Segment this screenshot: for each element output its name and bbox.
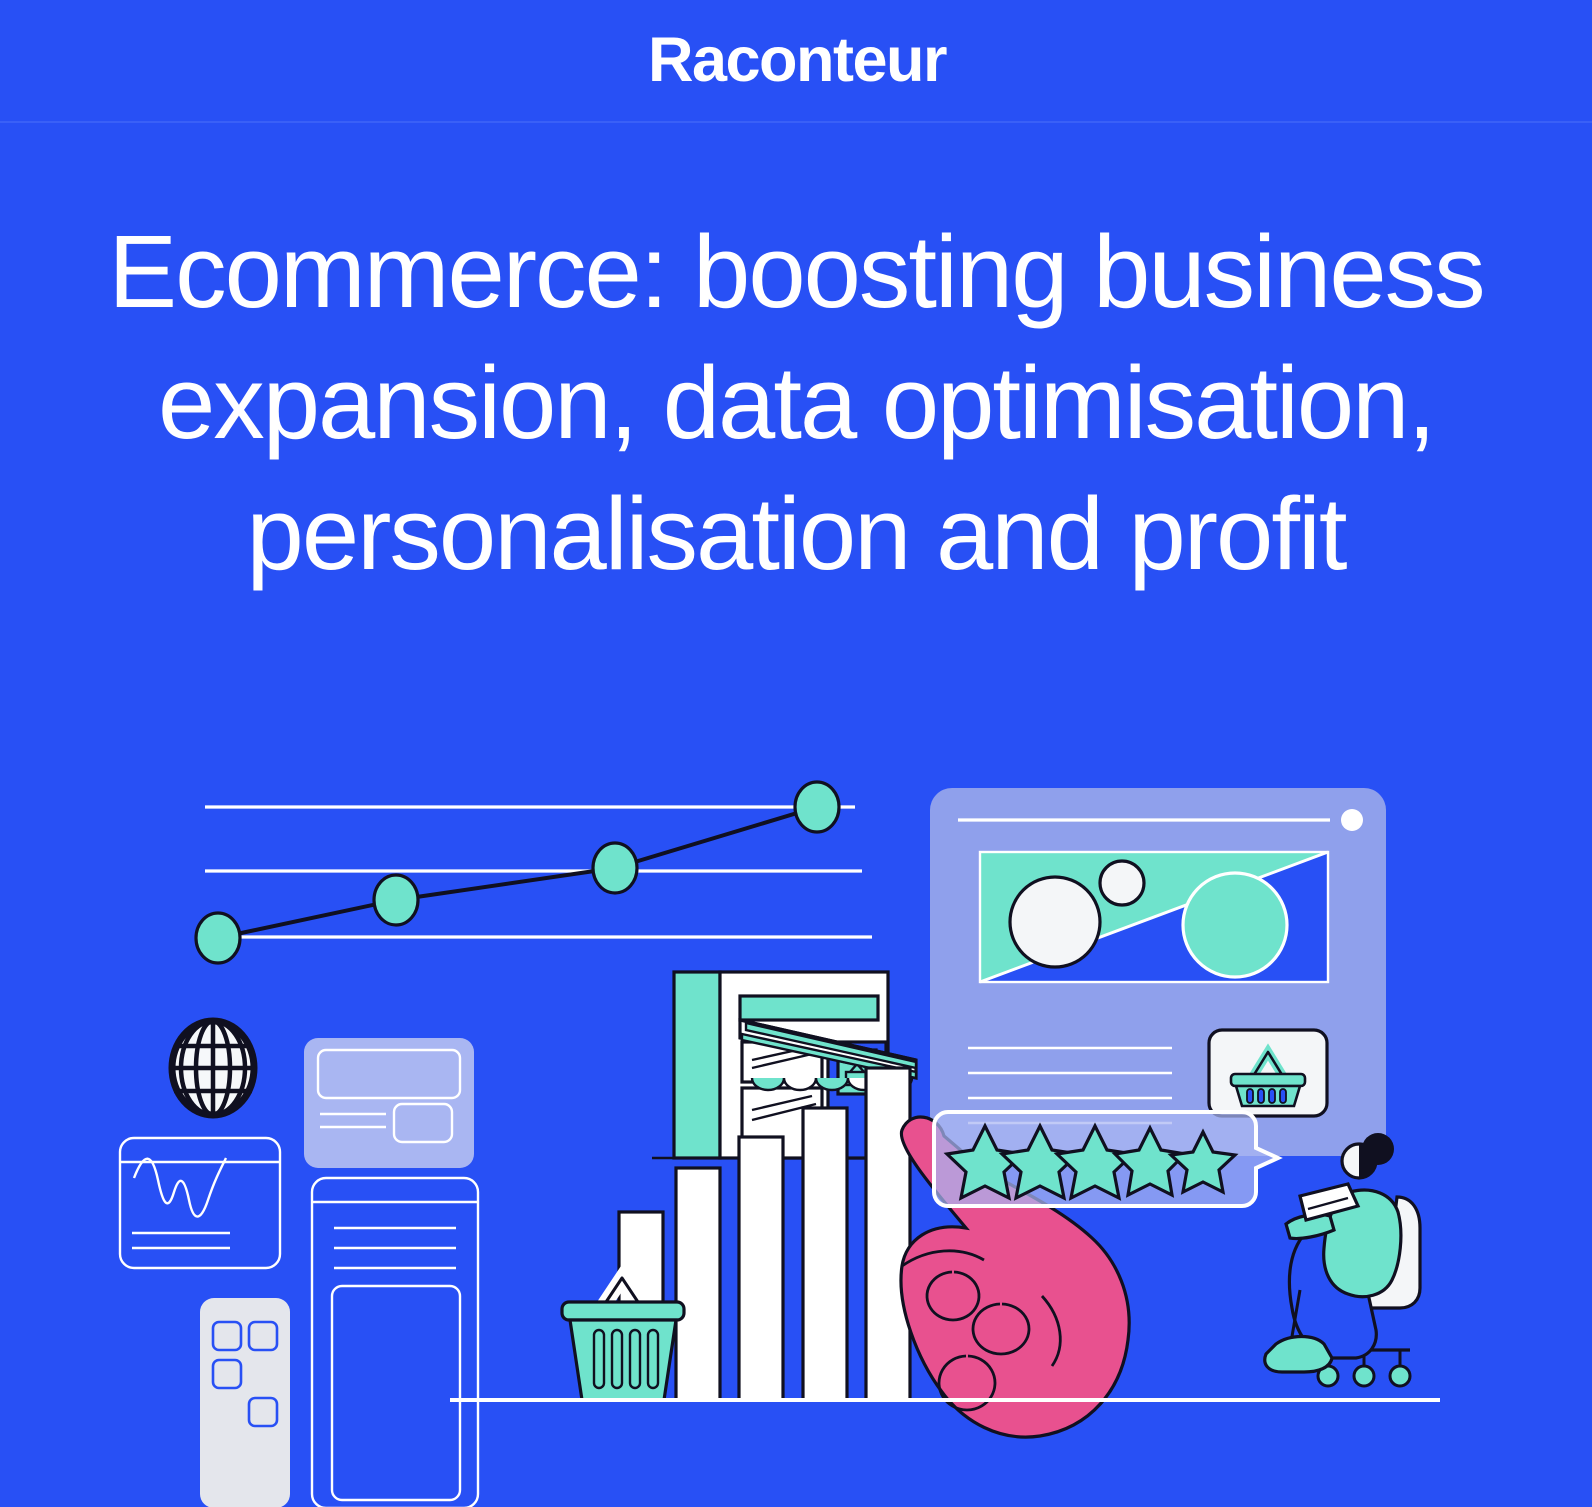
storefront-sign bbox=[740, 996, 878, 1020]
tablet-image-circle-small bbox=[1100, 861, 1144, 905]
chair-wheel-2 bbox=[1354, 1366, 1374, 1386]
card-panel bbox=[304, 1038, 474, 1168]
person-at-desk bbox=[1265, 1133, 1420, 1386]
bar-4 bbox=[803, 1108, 847, 1400]
basket-button[interactable] bbox=[1209, 1030, 1327, 1116]
line-chart bbox=[196, 782, 872, 963]
tablet-camera-dot bbox=[1341, 809, 1363, 831]
chart-window-sparkline bbox=[134, 1158, 226, 1217]
hero-illustration: .ol { stroke:#101020; stroke-width:3.2; … bbox=[0, 700, 1592, 1507]
document-panel bbox=[312, 1178, 478, 1507]
tablet-image-circle-large bbox=[1010, 877, 1100, 967]
line-chart-point-2 bbox=[374, 875, 418, 925]
line-chart-point-4 bbox=[795, 782, 839, 832]
title-line-1: Ecommerce: boosting business bbox=[14, 207, 1578, 338]
storefront-side-wall bbox=[674, 972, 720, 1158]
page-title: Ecommerce: boosting business expansion, … bbox=[0, 207, 1592, 599]
tablet-image-circle-mint bbox=[1183, 873, 1287, 977]
person-hair-bun bbox=[1362, 1133, 1394, 1165]
bar-3 bbox=[739, 1137, 783, 1400]
bar-2 bbox=[676, 1168, 720, 1400]
document-panel-body bbox=[332, 1286, 460, 1500]
person-shoe bbox=[1265, 1337, 1332, 1373]
title-line-3: personalisation and profit bbox=[14, 469, 1578, 600]
raconteur-logo[interactable]: Raconteur bbox=[646, 29, 946, 92]
review-bubble bbox=[934, 1112, 1278, 1206]
bar-5 bbox=[866, 1068, 910, 1400]
line-chart-point-1 bbox=[196, 913, 240, 963]
line-chart-point-3 bbox=[593, 843, 637, 893]
chart-window bbox=[120, 1138, 280, 1268]
logo-text: Raconteur bbox=[648, 29, 946, 92]
title-line-2: expansion, data optimisation, bbox=[14, 338, 1578, 469]
poster-page: Raconteur Ecommerce: boosting business e… bbox=[0, 0, 1592, 1507]
site-header: Raconteur bbox=[0, 0, 1592, 123]
tablet-hero-image bbox=[980, 852, 1328, 982]
card-panel-body bbox=[304, 1038, 474, 1168]
chair-wheel-3 bbox=[1390, 1366, 1410, 1386]
phone-panel bbox=[200, 1298, 290, 1507]
globe-icon bbox=[172, 1021, 254, 1115]
tablet-window bbox=[930, 788, 1386, 1156]
